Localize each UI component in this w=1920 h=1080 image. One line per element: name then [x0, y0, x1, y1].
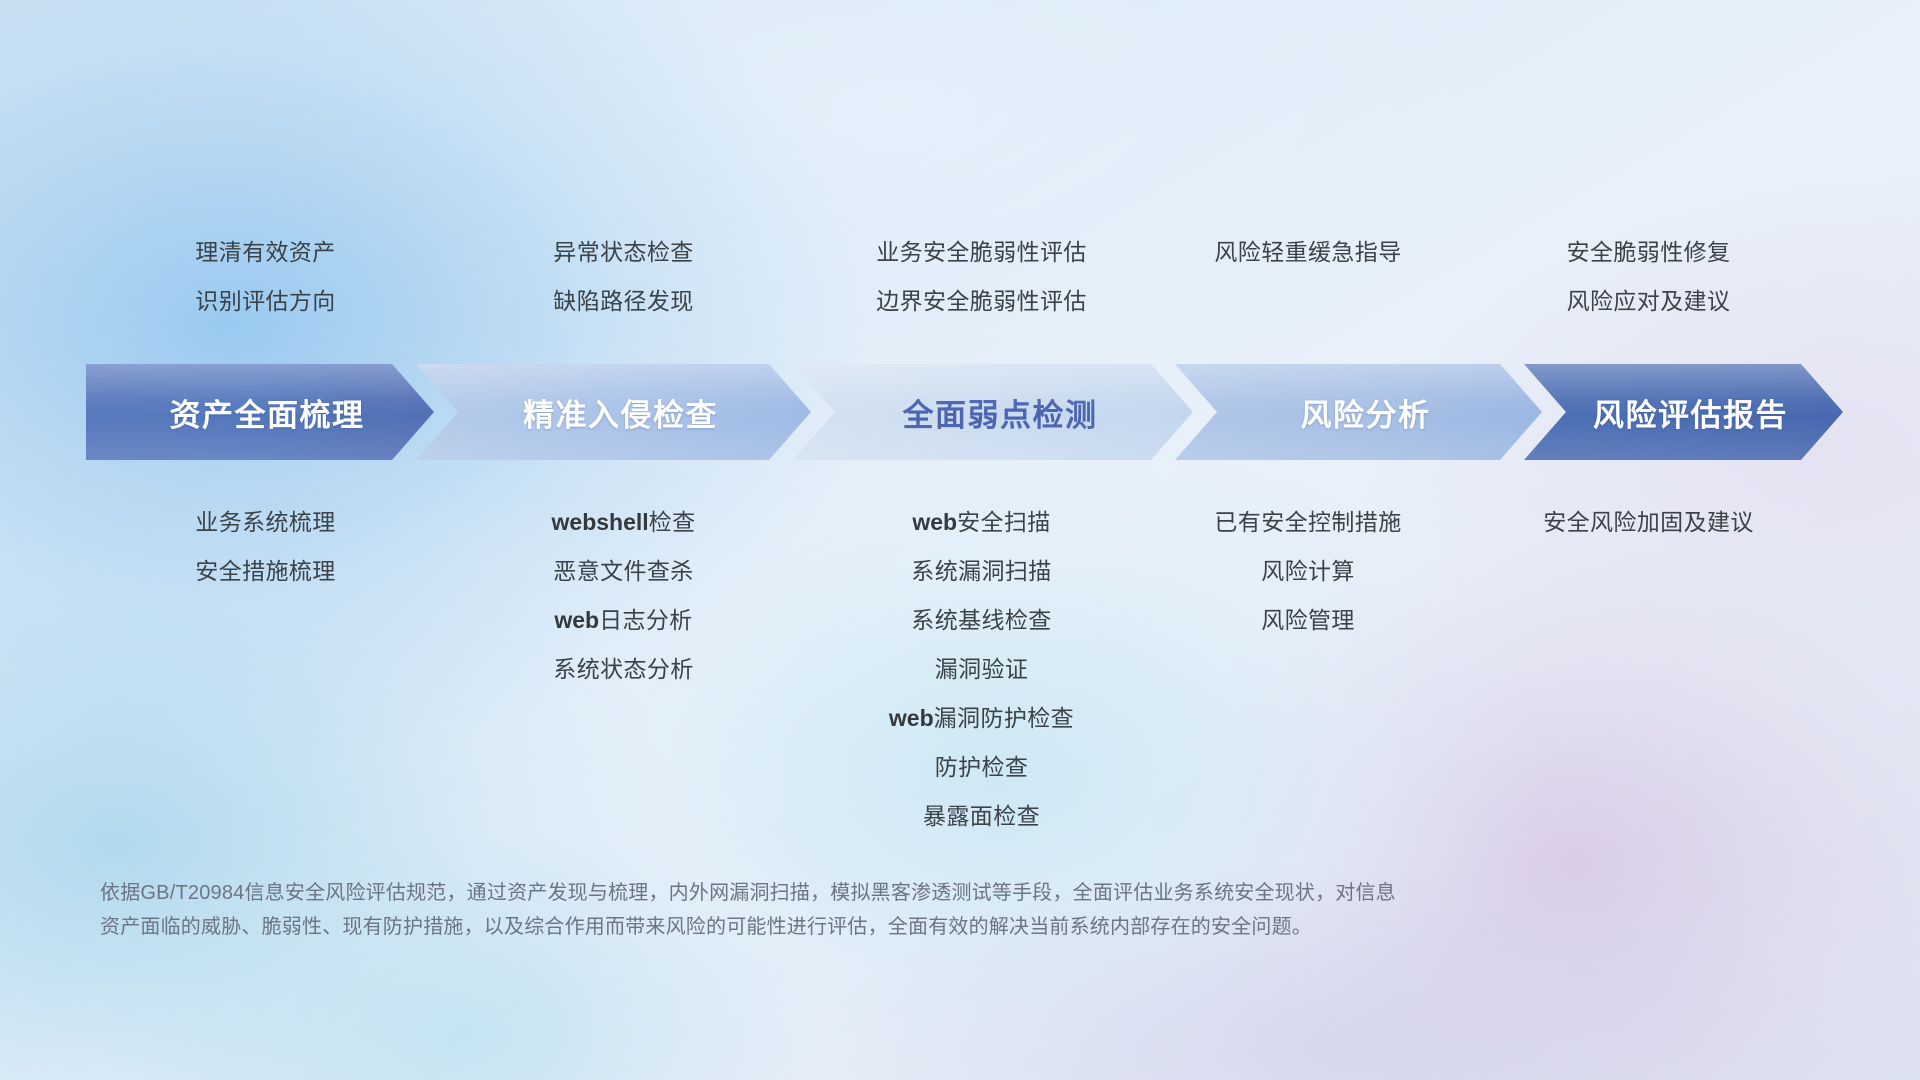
stage-arrow-risk-analysis[interactable]: 风险分析 — [1175, 364, 1542, 460]
list-item: 识别评估方向 — [90, 277, 441, 326]
list-item: 风险管理 — [1169, 596, 1447, 645]
top-list-risk-analysis: 风险轻重缓急指导 — [1163, 228, 1453, 326]
bottom-list-weakness-detection: web安全扫描 系统漏洞扫描 系统基线检查 漏洞验证 web漏洞防护检查 防护检… — [800, 498, 1163, 841]
list-item: 异常状态检查 — [453, 228, 794, 277]
list-item: 业务系统梳理 — [90, 498, 441, 547]
top-list-intrusion-check: 异常状态检查 缺陷路径发现 — [447, 228, 800, 326]
list-item: 缺陷路径发现 — [453, 277, 794, 326]
list-item: 防护检查 — [806, 743, 1157, 792]
bottom-list-asset-inventory: 业务系统梳理 安全措施梳理 — [84, 498, 447, 841]
footer-line-1: 依据GB/T20984信息安全风险评估规范，通过资产发现与梳理，内外网漏洞扫描，… — [100, 876, 1660, 910]
stage-arrow-intrusion-check[interactable]: 精准入侵检查 — [416, 364, 811, 460]
process-diagram: 理清有效资产 识别评估方向 异常状态检查 缺陷路径发现 业务安全脆弱性评估 边界… — [0, 0, 1920, 1080]
footer-description: 依据GB/T20984信息安全风险评估规范，通过资产发现与梳理，内外网漏洞扫描，… — [100, 876, 1660, 944]
stage-label: 风险分析 — [1301, 390, 1431, 435]
list-item: 边界安全脆弱性评估 — [806, 277, 1157, 326]
bottom-list-risk-report: 安全风险加固及建议 — [1453, 498, 1844, 841]
list-item: 恶意文件查杀 — [453, 547, 794, 596]
bottom-detail-lists: 业务系统梳理 安全措施梳理 webshell检查 恶意文件查杀 web日志分析 … — [84, 498, 1844, 841]
top-list-asset-inventory: 理清有效资产 识别评估方向 — [84, 228, 447, 326]
top-description-lists: 理清有效资产 识别评估方向 异常状态检查 缺陷路径发现 业务安全脆弱性评估 边界… — [84, 228, 1844, 326]
stage-label: 全面弱点检测 — [903, 390, 1098, 435]
list-item: 系统基线检查 — [806, 596, 1157, 645]
list-item: 风险轻重缓急指导 — [1169, 228, 1447, 277]
stage-label: 资产全面梳理 — [170, 390, 365, 435]
list-item: 安全措施梳理 — [90, 547, 441, 596]
stage-arrow-weakness-detection[interactable]: 全面弱点检测 — [793, 364, 1193, 460]
bottom-list-risk-analysis: 已有安全控制措施 风险计算 风险管理 — [1163, 498, 1453, 841]
list-item: web漏洞防护检查 — [806, 694, 1157, 743]
list-item: 安全脆弱性修复 — [1459, 228, 1838, 277]
list-item: web日志分析 — [453, 596, 794, 645]
list-item: 安全风险加固及建议 — [1459, 498, 1838, 547]
stage-label: 风险评估报告 — [1593, 390, 1788, 435]
list-item: 系统状态分析 — [453, 645, 794, 694]
top-list-risk-report: 安全脆弱性修复 风险应对及建议 — [1453, 228, 1844, 326]
list-item: 风险计算 — [1169, 547, 1447, 596]
list-item: webshell检查 — [453, 498, 794, 547]
footer-line-2: 资产面临的威胁、脆弱性、现有防护措施，以及综合作用而带来风险的可能性进行评估，全… — [100, 910, 1660, 944]
list-item: 漏洞验证 — [806, 645, 1157, 694]
stage-arrow-asset-inventory[interactable]: 资产全面梳理 — [86, 364, 434, 460]
stage-label: 精准入侵检查 — [523, 390, 718, 435]
list-item: 系统漏洞扫描 — [806, 547, 1157, 596]
list-item: 理清有效资产 — [90, 228, 441, 277]
top-list-weakness-detection: 业务安全脆弱性评估 边界安全脆弱性评估 — [800, 228, 1163, 326]
stage-arrow-band: 资产全面梳理 精准入侵检查 全面弱点检测 风险分析 风险评估报告 — [86, 364, 1843, 460]
list-item: 暴露面检查 — [806, 792, 1157, 841]
list-item: 已有安全控制措施 — [1169, 498, 1447, 547]
list-item: web安全扫描 — [806, 498, 1157, 547]
stage-arrow-risk-report[interactable]: 风险评估报告 — [1524, 364, 1843, 460]
list-item: 风险应对及建议 — [1459, 277, 1838, 326]
list-item: 业务安全脆弱性评估 — [806, 228, 1157, 277]
bottom-list-intrusion-check: webshell检查 恶意文件查杀 web日志分析 系统状态分析 — [447, 498, 800, 841]
